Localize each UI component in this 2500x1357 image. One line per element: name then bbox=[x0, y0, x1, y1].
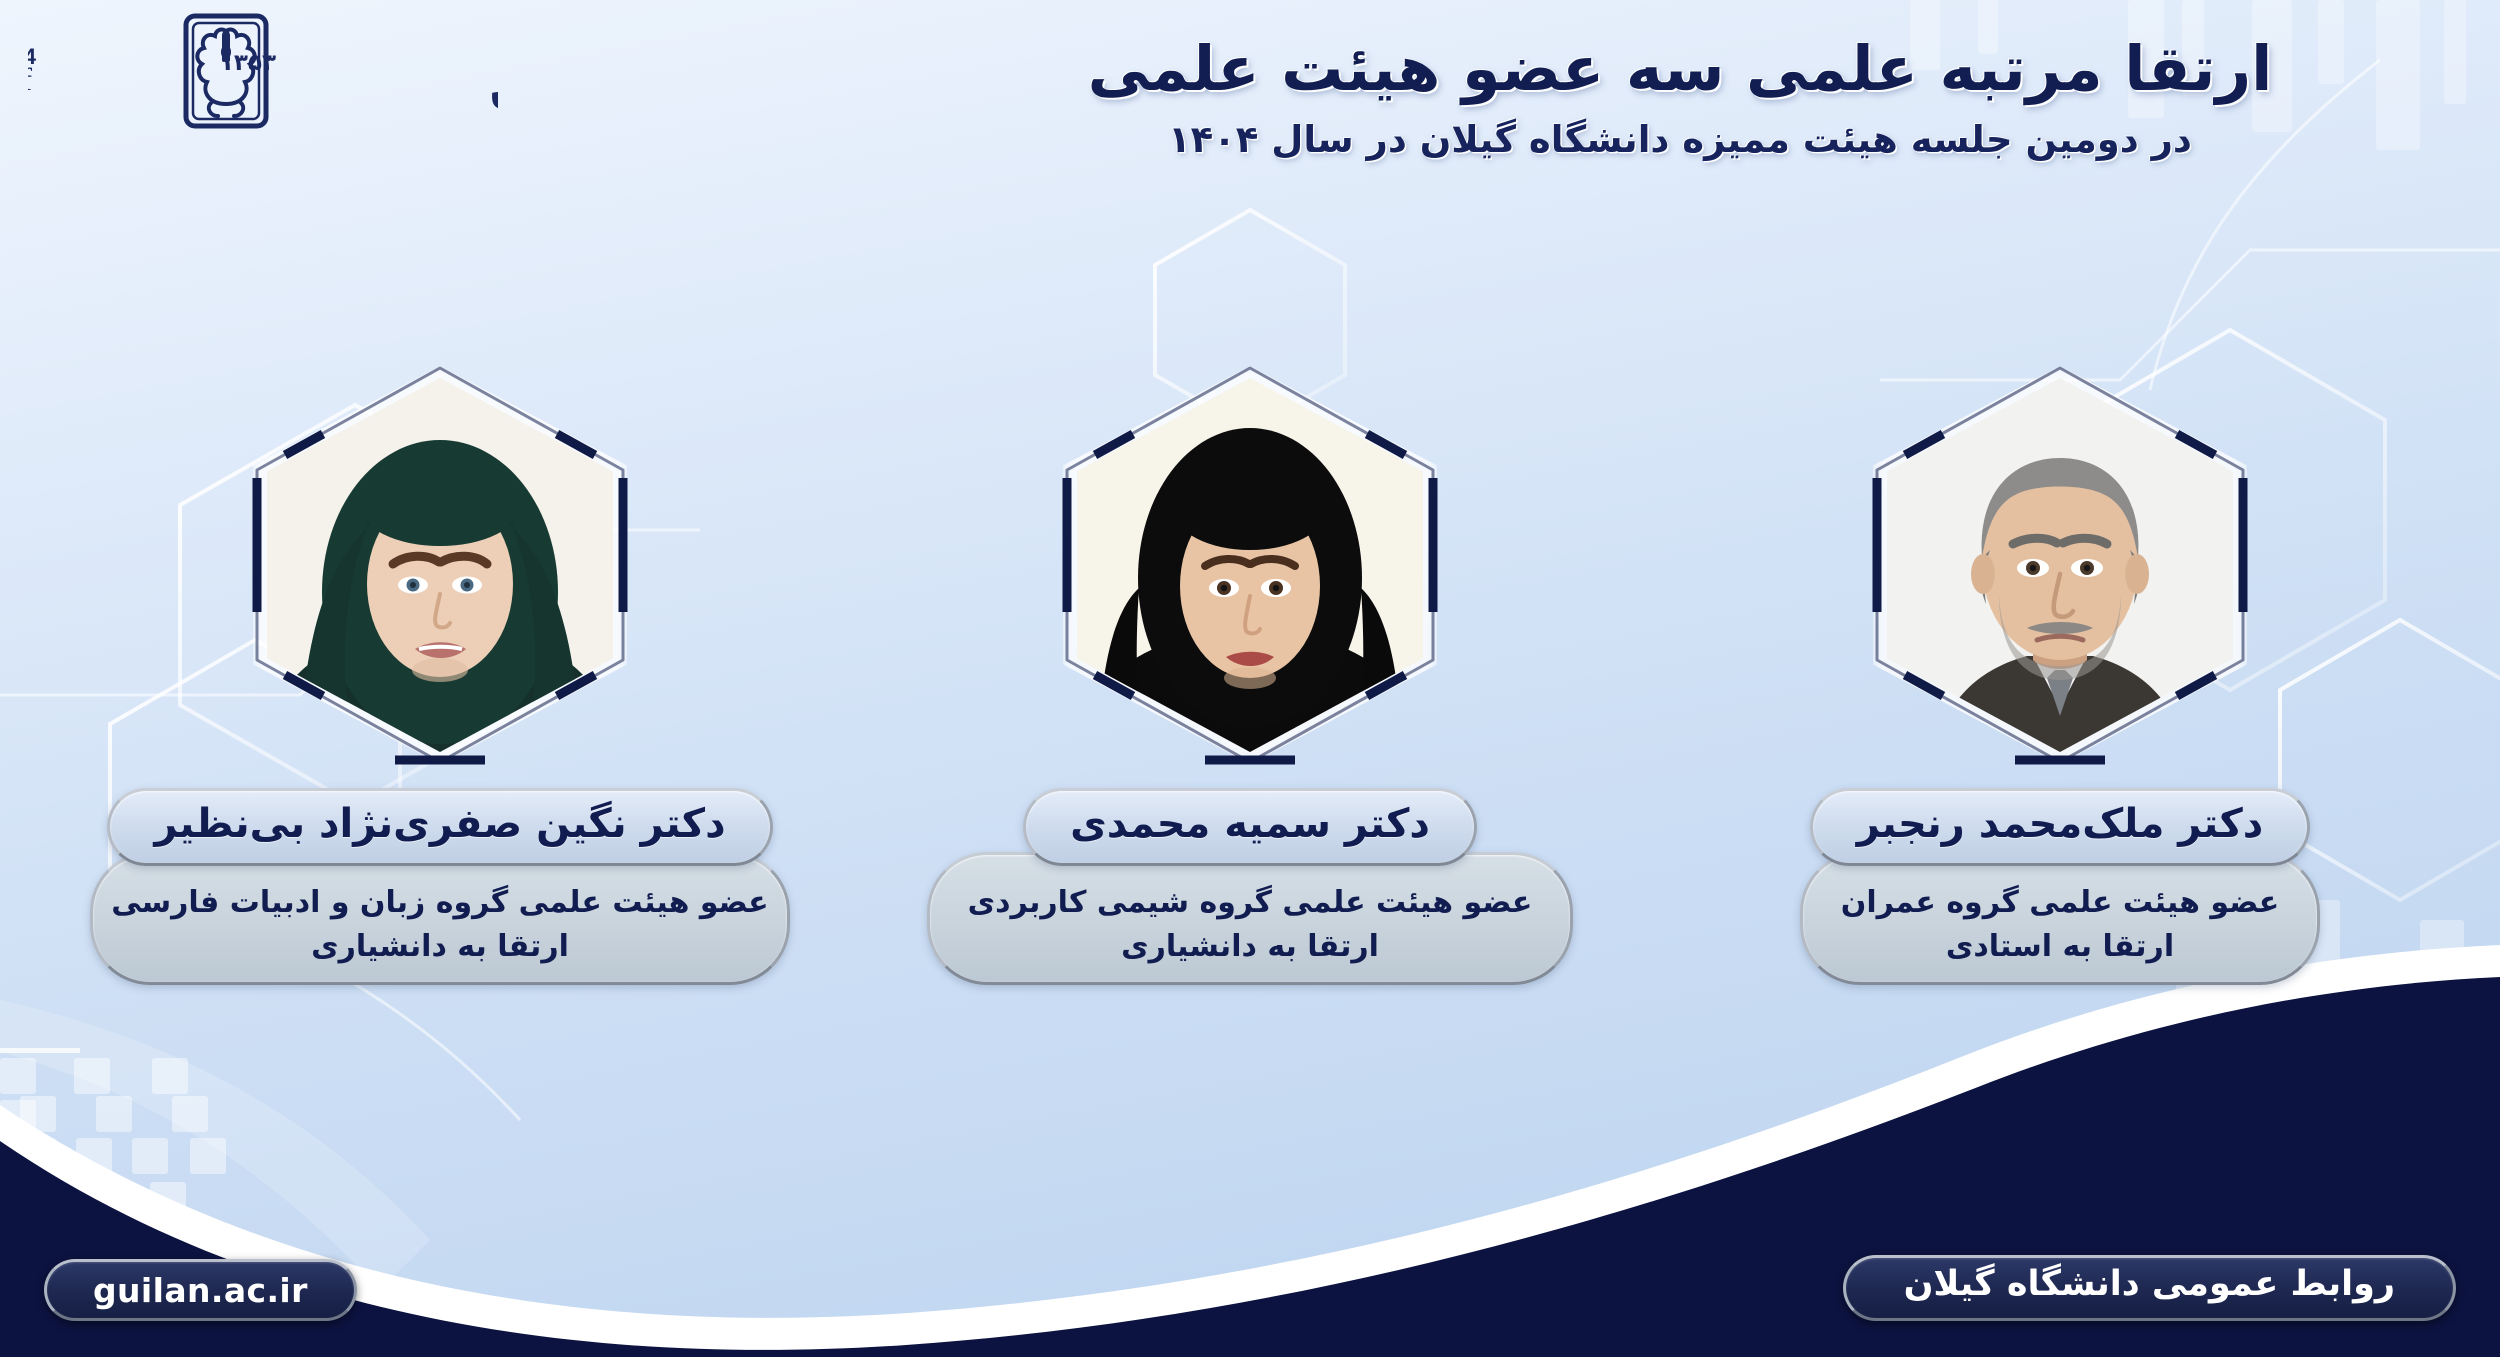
portrait-hex-outline bbox=[245, 360, 635, 770]
poster-canvas: 1974 University of Guilan ۱۳۵۳ دانشگاه گ… bbox=[0, 0, 2500, 1357]
person-role: عضو هیئت علمی گروه عمران ارتقا به استادی bbox=[1800, 852, 2321, 985]
person-promotion: ارتقا به دانشیاری bbox=[311, 925, 569, 969]
portrait-frame bbox=[1055, 360, 1445, 770]
portrait-frame bbox=[1865, 360, 2255, 770]
person-card: دکتر ملک‌محمد رنجبر عضو هیئت علمی گروه ع… bbox=[1710, 360, 2410, 985]
logo-line1: University of bbox=[28, 61, 32, 97]
person-card: دکتر سمیه محمدی عضو هیئت علمی گروه شیمی … bbox=[900, 360, 1600, 985]
person-role: عضو هیئت علمی گروه زبان و ادبیات فارسی ا… bbox=[90, 852, 790, 985]
person-name-text: دکتر نگین صفری‌نژاد بی‌نظیر bbox=[154, 801, 725, 847]
page-subtitle: در دومین جلسه هیئت ممیزه دانشگاه گیلان د… bbox=[915, 116, 2445, 164]
people-row: دکتر نگین صفری‌نژاد بی‌نظیر عضو هیئت علم… bbox=[0, 360, 2500, 1060]
website-badge-label: guilan.ac.ir bbox=[93, 1271, 308, 1310]
logo-year-fa: ۱۳۵۳ bbox=[220, 50, 276, 76]
website-badge[interactable]: guilan.ac.ir bbox=[44, 1259, 357, 1321]
portrait-hex-outline bbox=[1865, 360, 2255, 770]
page-title: ارتقا مرتبه علمی سه عضو هیئت علمی bbox=[915, 30, 2445, 108]
person-role: عضو هیئت علمی گروه شیمی کاربردی ارتقا به… bbox=[927, 852, 1574, 985]
person-name-text: دکتر سمیه محمدی bbox=[1070, 801, 1430, 847]
person-name-text: دکتر ملک‌محمد رنجبر bbox=[1857, 801, 2264, 847]
person-card: دکتر نگین صفری‌نژاد بی‌نظیر عضو هیئت علم… bbox=[90, 360, 790, 985]
person-department: عضو هیئت علمی گروه شیمی کاربردی bbox=[968, 881, 1533, 925]
person-department: عضو هیئت علمی گروه زبان و ادبیات فارسی bbox=[111, 881, 768, 925]
university-logo: 1974 University of Guilan ۱۳۵۳ دانشگاه گ… bbox=[28, 8, 498, 133]
person-name: دکتر سمیه محمدی bbox=[1023, 788, 1477, 866]
portrait-frame bbox=[245, 360, 635, 770]
header-titles: ارتقا مرتبه علمی سه عضو هیئت علمی در دوم… bbox=[915, 30, 2445, 164]
person-department: عضو هیئت علمی گروه عمران bbox=[1841, 881, 2280, 925]
person-promotion: ارتقا به دانشیاری bbox=[1121, 925, 1379, 969]
public-relations-badge: روابط عمومی دانشگاه گیلان bbox=[1843, 1255, 2456, 1321]
person-name: دکتر ملک‌محمد رنجبر bbox=[1810, 788, 2311, 866]
portrait-hex-outline bbox=[1055, 360, 1445, 770]
person-name: دکتر نگین صفری‌نژاد بی‌نظیر bbox=[107, 788, 772, 866]
logo-name-fa: دانشگاه گیلان bbox=[484, 18, 498, 115]
public-relations-label: روابط عمومی دانشگاه گیلان bbox=[1904, 1264, 2395, 1304]
logo-line2: Guilan bbox=[28, 95, 32, 131]
person-promotion: ارتقا به استادی bbox=[1946, 925, 2174, 969]
